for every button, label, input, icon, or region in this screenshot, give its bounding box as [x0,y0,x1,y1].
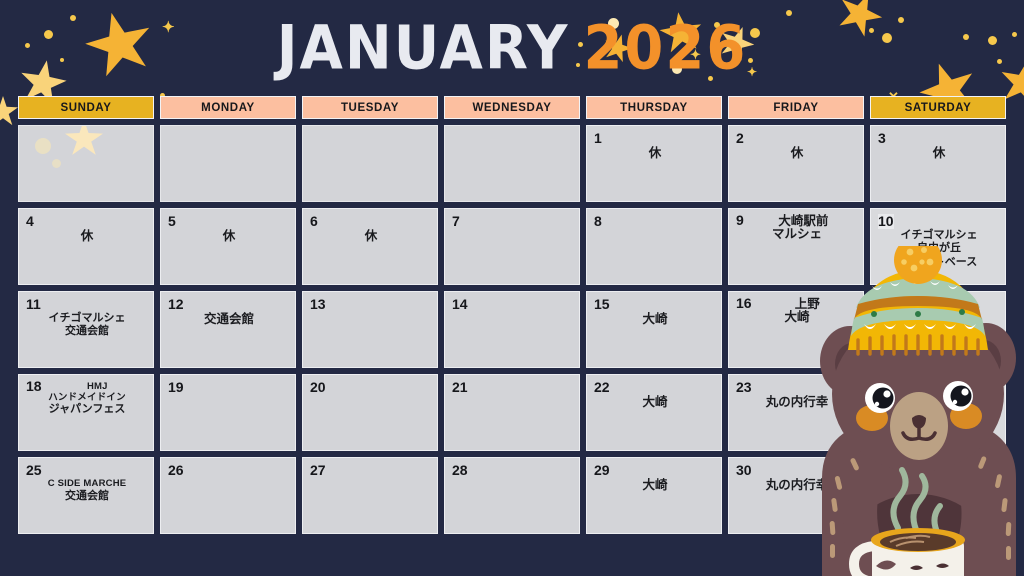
event-line: HMJ [48,381,147,393]
event-line: クラフトベース [879,256,999,269]
day-number: 9 [736,213,744,228]
weekday-header-monday: MONDAY [160,96,296,119]
calendar-week-row: 11イチゴマルシェ交通会館12交通会館131415大崎16上野大崎17HMJハン… [18,291,1006,368]
calendar-day-cell-16[interactable]: 16上野大崎 [728,291,864,368]
day-number: 11 [26,297,41,312]
calendar-day-cell-14[interactable]: 14 [444,291,580,368]
calendar-day-cell-18[interactable]: 18HMJハンドメイドインジャパンフェス [18,374,154,451]
day-event-text: 交通会館 [168,312,290,327]
calendar-header: JANUARY 2026 [0,0,1024,96]
day-event-text: C SIDE MARCHE辻堂テラスモール [878,395,1000,419]
event-line: ジャパンフェス [879,337,999,350]
day-event-text: 大崎 [736,310,858,325]
calendar-day-cell-1[interactable]: 1休 [586,125,722,202]
calendar-day-cell-6[interactable]: 6休 [302,208,438,285]
calendar-week-row: 25C SIDE MARCHE交通会館26272829大崎30丸の内行幸31名古… [18,457,1006,534]
event-line: 休 [27,229,147,244]
calendar-week-row: 4休5休6休789大崎駅前マルシェ10イチゴマルシェ自由が丘クラフトベース [18,208,1006,285]
day-number: 31 [878,463,894,478]
event-line: 交通会館 [27,490,147,503]
calendar-cell-empty [18,125,154,202]
calendar-cell-empty [302,125,438,202]
day-number: 6 [310,214,318,229]
event-line: イチゴマルシェ [879,229,999,242]
day-event-text: 休 [878,146,1000,161]
event-line: 休 [169,229,289,244]
event-line: 丸の内行幸 [737,395,857,410]
calendar-day-cell-29[interactable]: 29大崎 [586,457,722,534]
day-number: 25 [26,463,42,478]
weekday-header-wednesday: WEDNESDAY [444,96,580,119]
day-number: 19 [168,380,184,395]
day-event-text: イチゴマルシェ自由が丘クラフトベース [878,229,1000,269]
day-number: 30 [736,463,752,478]
calendar-day-cell-13[interactable]: 13 [302,291,438,368]
calendar-day-cell-8[interactable]: 8 [586,208,722,285]
day-number: 17 [878,297,894,312]
weekday-header-row: SUNDAYMONDAYTUESDAYWEDNESDAYTHURSDAYFRID… [18,96,1006,119]
event-line: ハンドメイドイン [27,392,147,404]
event-line: 大崎 [595,478,715,493]
dot-decoration [52,159,61,168]
day-number: 18 [26,379,42,394]
event-line: イチゴマルシェ [27,312,147,325]
day-event-text: 休 [26,229,148,244]
day-event-text: 大崎 [594,478,716,493]
calendar-day-cell-23[interactable]: 23丸の内行幸 [728,374,864,451]
day-number: 3 [878,131,886,146]
event-line: ジャパンフェス [27,403,147,416]
event-line: 大崎 [595,395,715,410]
calendar-day-cell-25[interactable]: 25C SIDE MARCHE交通会館 [18,457,154,534]
calendar-day-cell-28[interactable]: 28 [444,457,580,534]
event-line: 交通会館 [169,312,289,327]
day-number: 13 [310,297,326,312]
calendar-week-row: 1休2休3休 [18,125,1006,202]
day-event-text: HMJ [47,380,148,393]
weekday-header-friday: FRIDAY [728,96,864,119]
day-number: 12 [168,297,184,312]
day-event-text: 丸の内行幸 [736,395,858,410]
day-event-text: 名古屋ハンドメイドマルシェ [878,478,1000,505]
event-line: 自由が丘 [879,242,999,255]
day-event-text: 丸の内行幸 [736,478,858,493]
calendar-day-cell-24[interactable]: 24C SIDE MARCHE辻堂テラスモール [870,374,1006,451]
event-line: 交通会館 [27,325,147,338]
event-line: 休 [737,146,857,161]
calendar-cell-empty [444,125,580,202]
dot-decoration [35,138,51,154]
day-event-text: 休 [168,229,290,244]
calendar-day-cell-21[interactable]: 21 [444,374,580,451]
day-number: 1 [594,131,602,146]
calendar-day-cell-27[interactable]: 27 [302,457,438,534]
event-line: 休 [595,146,715,161]
weekday-header-sunday: SUNDAY [18,96,154,119]
day-event-text: C SIDE MARCHE交通会館 [26,478,148,503]
event-line: ハンドメイドイン [879,324,999,337]
event-line: C SIDE MARCHE [27,478,147,490]
calendar-day-cell-31[interactable]: 31名古屋ハンドメイドマルシェ [870,457,1006,534]
calendar-day-cell-9[interactable]: 9大崎駅前マルシェ [728,208,864,285]
day-number: 20 [310,380,326,395]
calendar-day-cell-11[interactable]: 11イチゴマルシェ交通会館 [18,291,154,368]
day-number: 14 [452,297,468,312]
day-event-text: HMJハンドメイドインジャパンフェス [878,312,1000,350]
day-number: 27 [310,463,326,478]
day-event-text: 休 [736,146,858,161]
calendar-day-cell-3[interactable]: 3休 [870,125,1006,202]
calendar-day-cell-22[interactable]: 22大崎 [586,374,722,451]
calendar-day-cell-17[interactable]: 17HMJハンドメイドインジャパンフェス [870,291,1006,368]
weekday-header-tuesday: TUESDAY [302,96,438,119]
calendar-day-cell-26[interactable]: 26 [160,457,296,534]
calendar-day-cell-20[interactable]: 20 [302,374,438,451]
calendar-day-cell-19[interactable]: 19 [160,374,296,451]
day-number: 22 [594,380,610,395]
event-line: 休 [879,146,999,161]
event-line: マルシェ [737,227,857,242]
calendar-week-row: 18HMJハンドメイドインジャパンフェス19202122大崎23丸の内行幸24C… [18,374,1006,451]
day-event-text: イチゴマルシェ交通会館 [26,312,148,339]
day-number: 16 [736,296,752,311]
day-number: 4 [26,214,34,229]
day-number: 26 [168,463,184,478]
calendar-day-cell-30[interactable]: 30丸の内行幸 [728,457,864,534]
day-number: 28 [452,463,468,478]
day-number: 15 [594,297,610,312]
event-line: 休 [311,229,431,244]
event-line: 大崎 [737,310,857,325]
day-event-text: 休 [310,229,432,244]
star-icon [65,125,103,156]
calendar-day-cell-10[interactable]: 10イチゴマルシェ自由が丘クラフトベース [870,208,1006,285]
day-number: 8 [594,214,602,229]
calendar-day-cell-12[interactable]: 12交通会館 [160,291,296,368]
day-number: 29 [594,463,610,478]
calendar-day-cell-15[interactable]: 15大崎 [586,291,722,368]
calendar-day-cell-2[interactable]: 2休 [728,125,864,202]
event-line: イドマルシェ [879,491,999,504]
day-number: 24 [878,380,894,395]
event-line: C SIDE MARCHE [879,395,999,407]
day-event-text: マルシェ [736,227,858,242]
page-title-month: JANUARY [277,13,570,83]
page-title-year: 2026 [583,13,747,83]
calendar-day-cell-7[interactable]: 7 [444,208,580,285]
day-number: 2 [736,131,744,146]
day-number: 21 [452,380,468,395]
event-line: 大崎 [595,312,715,327]
day-event-text: 大崎 [594,395,716,410]
calendar-day-cell-4[interactable]: 4休 [18,208,154,285]
weekday-header-saturday: SATURDAY [870,96,1006,119]
day-number: 23 [736,380,752,395]
day-event-text: ハンドメイドインジャパンフェス [26,392,148,417]
day-event-text: 休 [594,146,716,161]
day-event-text: 大崎 [594,312,716,327]
weekday-header-thursday: THURSDAY [586,96,722,119]
day-number: 5 [168,214,176,229]
event-line: 丸の内行幸 [737,478,857,493]
calendar-grid: SUNDAYMONDAYTUESDAYWEDNESDAYTHURSDAYFRID… [0,96,1024,552]
event-line: 名古屋ハンドメ [879,478,999,491]
day-number: 7 [452,214,460,229]
day-number: 10 [878,214,894,229]
calendar-day-cell-5[interactable]: 5休 [160,208,296,285]
calendar-cell-empty [160,125,296,202]
event-line: 辻堂テラスモール [879,407,999,419]
event-line: HMJ [879,312,999,324]
